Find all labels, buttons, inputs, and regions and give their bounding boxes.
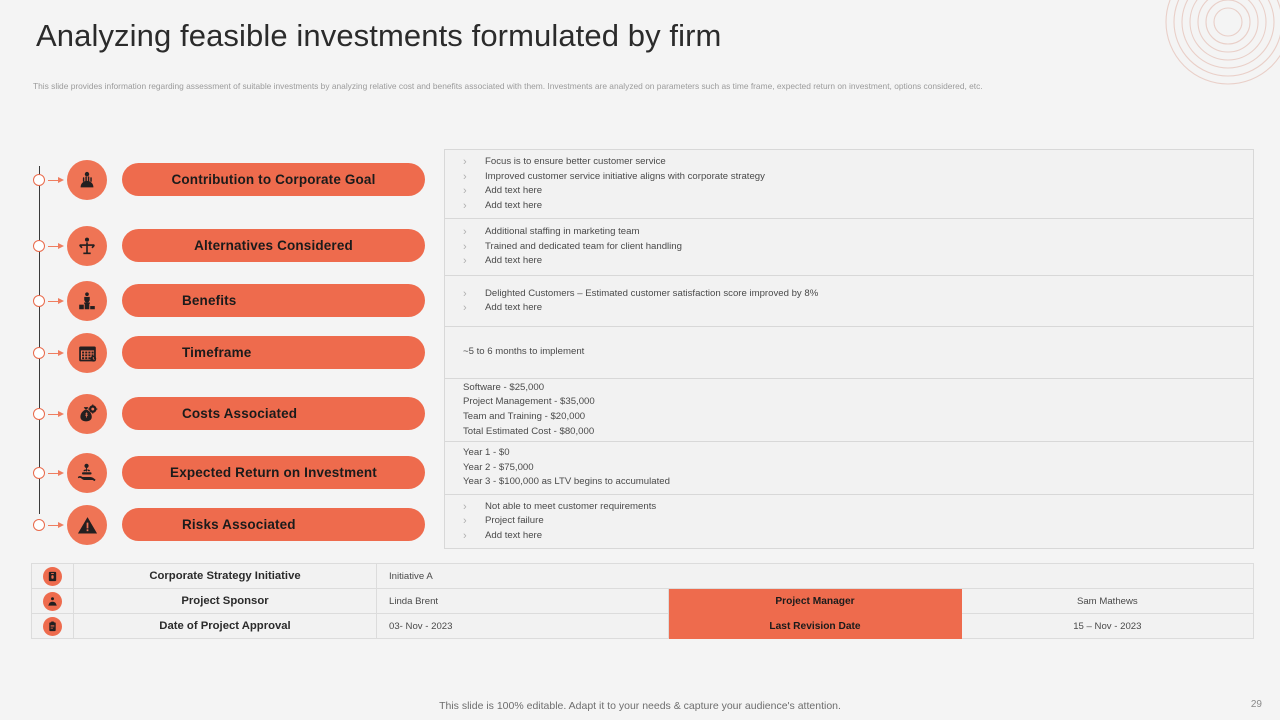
bullet-item: ›Trained and dedicated team for client h…	[463, 240, 1253, 255]
bullet-item: ›Project failure	[463, 514, 1253, 529]
bullet-item: ›Focus is to ensure better customer serv…	[463, 155, 1253, 170]
bullet-text: Focus is to ensure better customer servi…	[485, 155, 666, 170]
step-row-5[interactable]: Costs Associated	[30, 394, 430, 434]
info-value-secondary: 15 – Nov - 2023	[961, 614, 1253, 639]
chevron-right-icon: ›	[463, 301, 485, 316]
bullet-text: Add text here	[485, 199, 542, 214]
timeline-node-dot	[33, 174, 45, 186]
detail-text-line: Year 1 - $0	[463, 446, 1253, 461]
step-pill-contribution[interactable]: Contribution to Corporate Goal	[122, 163, 425, 196]
info-value: Initiative A	[377, 564, 1254, 589]
bullet-item: ›Delighted Customers – Estimated custome…	[463, 287, 1253, 302]
sponsor-icon	[43, 592, 62, 611]
arrow-right-icon	[48, 522, 64, 529]
chevron-right-icon: ›	[463, 184, 485, 199]
detail-row-6: Year 1 - $0Year 2 - $75,000Year 3 - $100…	[445, 442, 1253, 495]
timeline-node-dot	[33, 347, 45, 359]
info-label: Corporate Strategy Initiative	[74, 564, 377, 589]
footer-note: This slide is 100% editable. Adapt it to…	[0, 700, 1280, 712]
detail-row-1: ›Focus is to ensure better customer serv…	[445, 150, 1253, 219]
bullet-text: Add text here	[485, 184, 542, 199]
timeline-node-dot	[33, 467, 45, 479]
goal-hands-icon	[67, 160, 107, 200]
step-row-1[interactable]: Contribution to Corporate Goal	[30, 160, 430, 200]
step-row-2[interactable]: Alternatives Considered	[30, 226, 430, 266]
calendar-icon	[67, 333, 107, 373]
row-icon-cell	[32, 589, 74, 614]
crossroads-icon	[67, 226, 107, 266]
briefcase-icon	[43, 567, 62, 586]
detail-text-line: Year 2 - $75,000	[463, 461, 1253, 476]
bullet-text: Improved customer service initiative ali…	[485, 170, 765, 185]
details-panel: ›Focus is to ensure better customer serv…	[444, 149, 1254, 549]
detail-text-line: Project Management - $35,000	[463, 395, 1253, 410]
step-row-3[interactable]: Benefits	[30, 281, 430, 321]
detail-row-3: ›Delighted Customers – Estimated custome…	[445, 276, 1253, 327]
info-value: 03- Nov - 2023	[377, 614, 669, 639]
arrow-right-icon	[48, 177, 64, 184]
detail-text-line: ~5 to 6 months to implement	[463, 345, 1253, 360]
bullet-text: Project failure	[485, 514, 544, 529]
detail-row-2: ›Additional staffing in marketing team›T…	[445, 219, 1253, 276]
detail-text-line: Total Estimated Cost - $80,000	[463, 425, 1253, 440]
step-pill-alternatives[interactable]: Alternatives Considered	[122, 229, 425, 262]
bullet-item: ›Not able to meet customer requirements	[463, 500, 1253, 515]
timeline-node-dot	[33, 240, 45, 252]
info-value-secondary: Sam Mathews	[961, 589, 1253, 614]
bullet-item: ›Add text here	[463, 254, 1253, 269]
money-bag-gear-icon	[67, 394, 107, 434]
bullet-item: ›Add text here	[463, 301, 1253, 316]
step-pill-benefits[interactable]: Benefits	[122, 284, 425, 317]
page-subtitle: This slide provides information regardin…	[33, 80, 1238, 93]
bullet-text: Add text here	[485, 529, 542, 544]
arrow-right-icon	[48, 350, 64, 357]
bullet-item: ›Add text here	[463, 199, 1253, 214]
arrow-right-icon	[48, 298, 64, 305]
step-pill-roi[interactable]: Expected Return on Investment	[122, 456, 425, 489]
detail-text-line: Software - $25,000	[463, 381, 1253, 396]
bullet-text: Add text here	[485, 301, 542, 316]
step-row-4[interactable]: Timeframe	[30, 333, 430, 373]
row-icon-cell	[32, 564, 74, 589]
bullet-text: Add text here	[485, 254, 542, 269]
arrow-right-icon	[48, 411, 64, 418]
detail-row-5: Software - $25,000Project Management - $…	[445, 379, 1253, 442]
bullet-text: Delighted Customers – Estimated customer…	[485, 287, 818, 302]
arrow-right-icon	[48, 243, 64, 250]
chevron-right-icon: ›	[463, 240, 485, 255]
info-value: Linda Brent	[377, 589, 669, 614]
bullet-text: Additional staffing in marketing team	[485, 225, 639, 240]
arrow-right-icon	[48, 470, 64, 477]
steps-timeline: Contribution to Corporate Goal Alternati…	[30, 150, 430, 550]
chevron-right-icon: ›	[463, 287, 485, 302]
chevron-right-icon: ›	[463, 155, 485, 170]
clipboard-icon	[43, 617, 62, 636]
detail-text-line: Year 3 - $100,000 as LTV begins to accum…	[463, 475, 1253, 490]
warning-icon	[67, 505, 107, 545]
info-label-secondary: Project Manager	[669, 589, 961, 614]
timeline-node-dot	[33, 408, 45, 420]
step-row-6[interactable]: Expected Return on Investment	[30, 453, 430, 493]
detail-row-4: ~5 to 6 months to implement	[445, 327, 1253, 379]
detail-row-7: ›Not able to meet customer requirements›…	[445, 495, 1253, 548]
table-row: Project Sponsor Linda Brent Project Mana…	[32, 589, 1254, 614]
chevron-right-icon: ›	[463, 514, 485, 529]
trophy-person-icon	[67, 281, 107, 321]
hand-plant-icon	[67, 453, 107, 493]
step-pill-risks[interactable]: Risks Associated	[122, 508, 425, 541]
project-info-table: Corporate Strategy Initiative Initiative…	[31, 563, 1254, 639]
table-row: Date of Project Approval 03- Nov - 2023 …	[32, 614, 1254, 639]
chevron-right-icon: ›	[463, 225, 485, 240]
bullet-text: Not able to meet customer requirements	[485, 500, 656, 515]
detail-text-line: Team and Training - $20,000	[463, 410, 1253, 425]
info-label: Project Sponsor	[74, 589, 377, 614]
bullet-item: ›Add text here	[463, 529, 1253, 544]
step-pill-costs[interactable]: Costs Associated	[122, 397, 425, 430]
step-pill-timeframe[interactable]: Timeframe	[122, 336, 425, 369]
chevron-right-icon: ›	[463, 199, 485, 214]
step-row-7[interactable]: Risks Associated	[30, 505, 430, 545]
chevron-right-icon: ›	[463, 529, 485, 544]
bullet-item: ›Additional staffing in marketing team	[463, 225, 1253, 240]
chevron-right-icon: ›	[463, 500, 485, 515]
bullet-item: ›Add text here	[463, 184, 1253, 199]
timeline-node-dot	[33, 295, 45, 307]
chevron-right-icon: ›	[463, 254, 485, 269]
row-icon-cell	[32, 614, 74, 639]
timeline-node-dot	[33, 519, 45, 531]
page-number: 29	[1251, 699, 1262, 710]
chevron-right-icon: ›	[463, 170, 485, 185]
bullet-text: Trained and dedicated team for client ha…	[485, 240, 682, 255]
slide-root: Analyzing feasible investments formulate…	[0, 0, 1280, 720]
table-row: Corporate Strategy Initiative Initiative…	[32, 564, 1254, 589]
page-title: Analyzing feasible investments formulate…	[36, 18, 721, 54]
bullet-item: ›Improved customer service initiative al…	[463, 170, 1253, 185]
info-label-secondary: Last Revision Date	[669, 614, 961, 639]
info-label: Date of Project Approval	[74, 614, 377, 639]
